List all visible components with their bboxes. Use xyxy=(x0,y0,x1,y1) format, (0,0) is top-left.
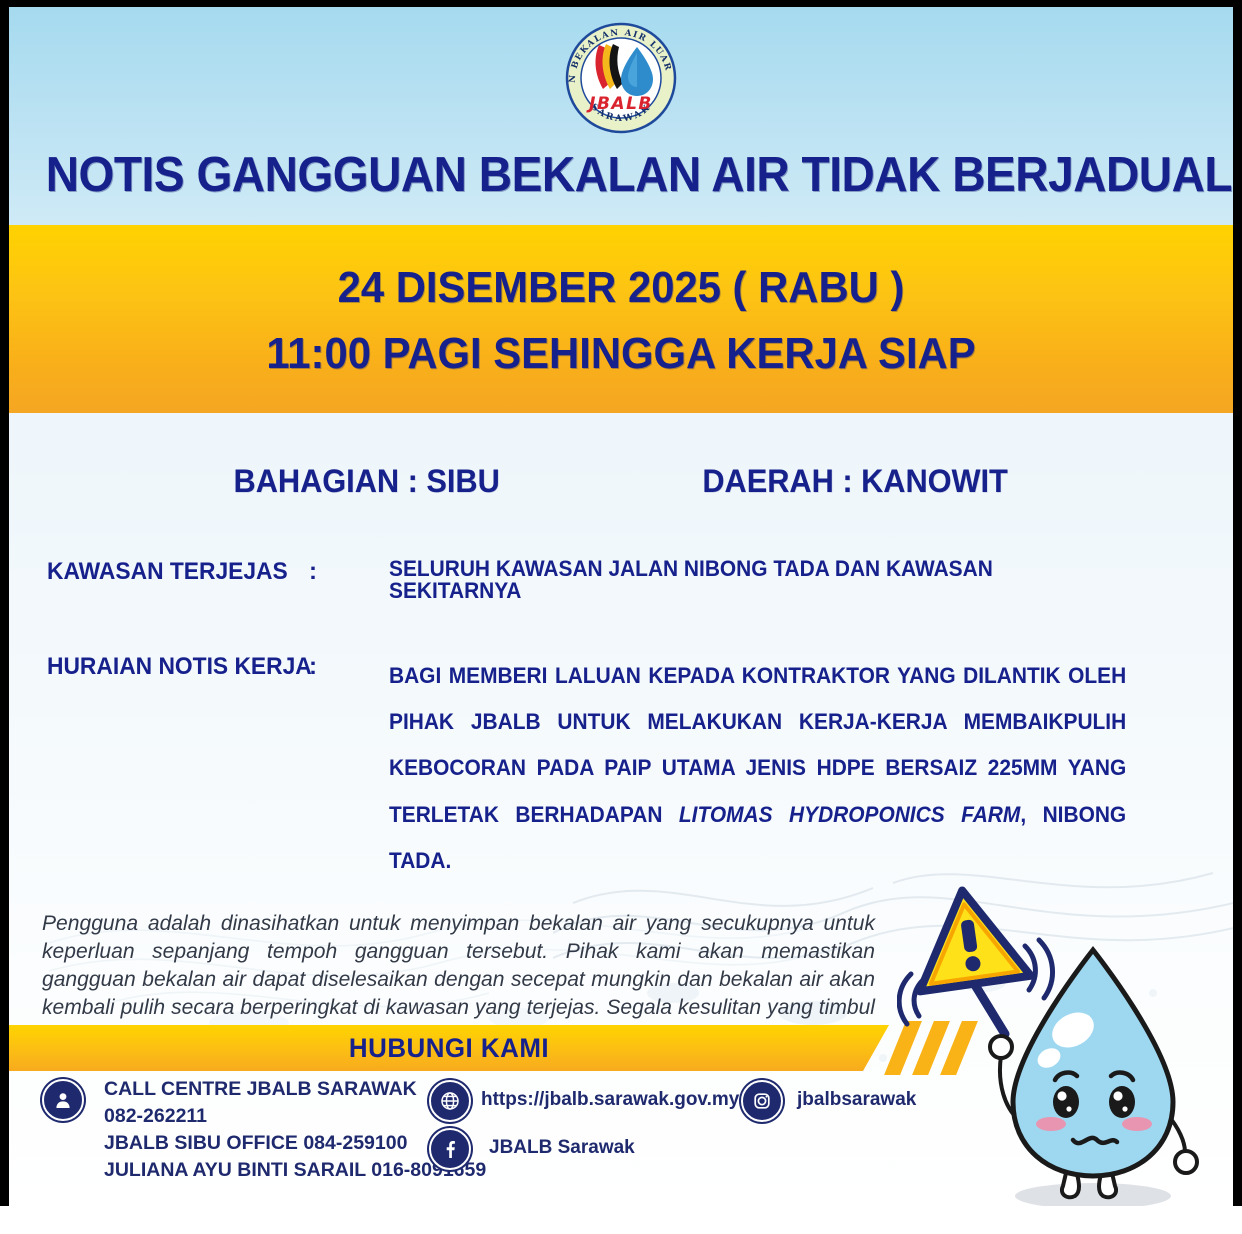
field-work-notice: HURAIAN NOTIS KERJA : BAGI MEMBERI LALUA… xyxy=(9,653,1233,930)
frame-edge-left xyxy=(0,0,9,1206)
globe-icon[interactable] xyxy=(429,1080,471,1122)
jbalb-logo-icon: JABATAN BEKALAN AIR LUAR BANDAR SARAWAK … xyxy=(559,19,683,137)
call-centre-block: CALL CENTRE JBALB SARAWAK 082-262211 JBA… xyxy=(104,1076,486,1184)
disruption-time: 11:00 PAGI SEHINGGA KERJA SIAP xyxy=(40,329,1203,379)
header-section: JABATAN BEKALAN AIR LUAR BANDAR SARAWAK … xyxy=(9,7,1233,225)
website-link[interactable]: https://jbalb.sarawak.gov.my/ xyxy=(481,1089,745,1111)
region-row: BAHAGIAN : SIBU DAERAH : KANOWIT xyxy=(9,463,1233,500)
work-notice-value: BAGI MEMBERI LALUAN KEPADA KONTRAKTOR YA… xyxy=(389,653,1191,930)
instagram-handle[interactable]: jbalbsarawak xyxy=(797,1089,916,1111)
notice-poster: JABATAN BEKALAN AIR LUAR BANDAR SARAWAK … xyxy=(0,0,1242,1234)
officer-line: JULIANA AYU BINTI SARAIL 016-8091659 xyxy=(104,1157,486,1184)
affected-area-colon: : xyxy=(309,558,389,602)
contact-details: CALL CENTRE JBALB SARAWAK 082-262211 JBA… xyxy=(9,1076,1009,1196)
field-affected-area: KAWASAN TERJEJAS : SELURUH KAWASAN JALAN… xyxy=(9,558,1233,602)
affected-area-value: SELURUH KAWASAN JALAN NIBONG TADA DAN KA… xyxy=(389,558,1191,602)
work-notice-label: HURAIAN NOTIS KERJA xyxy=(9,653,294,930)
affected-area-label: KAWASAN TERJEJAS xyxy=(9,558,294,602)
body-section: BAHAGIAN : SIBU DAERAH : KANOWIT KAWASAN… xyxy=(9,413,1233,1206)
person-icon xyxy=(42,1079,84,1121)
division-label: BAHAGIAN : SIBU xyxy=(234,463,500,500)
work-notice-site-name: LITOMAS HYDROPONICS FARM xyxy=(679,802,1020,827)
disruption-date: 24 DISEMBER 2025 ( RABU ) xyxy=(40,263,1203,313)
page-title: NOTIS GANGGUAN BEKALAN AIR TIDAK BERJADU… xyxy=(46,147,1197,203)
facebook-handle[interactable]: JBALB Sarawak xyxy=(489,1137,635,1159)
frame-edge-top xyxy=(0,0,1242,7)
instagram-icon[interactable] xyxy=(741,1080,783,1122)
date-banner: 24 DISEMBER 2025 ( RABU ) 11:00 PAGI SEH… xyxy=(9,225,1233,413)
frame-edge-right xyxy=(1233,0,1242,1206)
work-notice-colon: : xyxy=(309,653,389,930)
contact-banner-heading: HUBUNGI KAMI xyxy=(27,1033,872,1064)
svg-text:JBALB: JBALB xyxy=(586,94,653,114)
district-label: DAERAH : KANOWIT xyxy=(702,463,1007,500)
decorative-slashes xyxy=(889,1021,1009,1075)
facebook-icon[interactable] xyxy=(429,1128,471,1170)
